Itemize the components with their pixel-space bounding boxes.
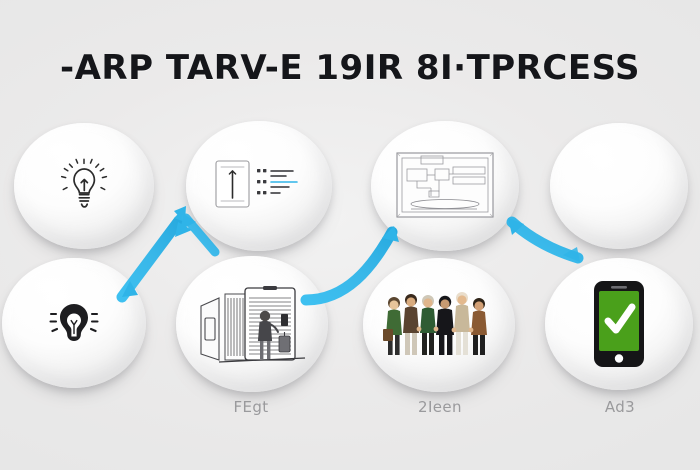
node-bottom-2[interactable]	[176, 256, 328, 392]
caption-node-bottom-2: FEgt	[176, 398, 326, 416]
node-top-1[interactable]	[14, 123, 154, 249]
lightbulb-filled-icon	[43, 292, 105, 354]
node-bottom-3[interactable]	[363, 258, 515, 392]
smartphone-checkmark-icon	[588, 277, 650, 371]
blank-icon	[614, 181, 624, 191]
lightbulb-idea-icon	[47, 149, 121, 223]
group-of-people-icon	[379, 289, 499, 361]
flowchart-diagram-icon	[391, 147, 499, 225]
document-form-sketch-icon	[207, 155, 311, 217]
page-title: -ARP TARV-E 19IR 8I·TPRCESS	[0, 48, 700, 88]
caption-node-bottom-3: 2Ieen	[365, 398, 515, 416]
person-at-whiteboard-icon	[193, 278, 311, 370]
diagram-canvas: -ARP TARV-E 19IR 8I·TPRCESS	[0, 0, 700, 470]
node-top-3[interactable]	[371, 121, 519, 251]
node-bottom-1[interactable]	[2, 258, 146, 388]
node-bottom-4[interactable]	[545, 258, 693, 390]
caption-node-bottom-4: Ad3	[546, 398, 694, 416]
node-top-4[interactable]	[550, 123, 688, 249]
node-top-2[interactable]	[186, 121, 332, 251]
